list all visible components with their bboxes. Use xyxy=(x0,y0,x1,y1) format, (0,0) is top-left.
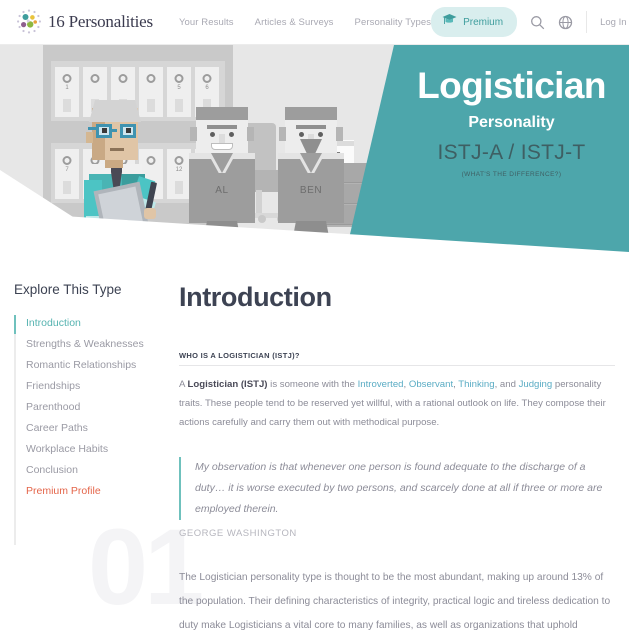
hero-title: Logistician xyxy=(394,67,629,104)
logo[interactable]: 16 Personalities xyxy=(16,9,153,35)
sidebar-item-romantic-relationships[interactable]: Romantic Relationships xyxy=(26,355,175,376)
trait-link-thinking[interactable]: Thinking xyxy=(458,379,494,390)
hero-banner: 1 5 6 7 12 5 xyxy=(0,45,629,260)
section-heading: WHO IS A LOGISTICIAN (ISTJ)? xyxy=(179,351,615,366)
dot-ring-logo-icon xyxy=(16,9,42,35)
premium-label: Premium xyxy=(463,17,503,28)
intro-bold-term: Logistician (ISTJ) xyxy=(188,379,268,390)
login-button[interactable]: Log In xyxy=(600,17,626,28)
intro-text-b: is someone with the xyxy=(268,379,358,390)
sidebar-list: Introduction Strengths & Weaknesses Roma… xyxy=(14,313,175,502)
robot-name-label: BEN xyxy=(278,185,344,196)
whats-the-difference-link[interactable]: (WHAT'S THE DIFFERENCE?) xyxy=(394,171,629,178)
binder-number: 1 xyxy=(55,85,79,91)
body-paragraph-2: The Logistician personality type is thou… xyxy=(179,566,615,640)
sidebar-title: Explore This Type xyxy=(14,282,175,297)
sidebar-rail xyxy=(14,315,16,545)
sidebar-active-indicator xyxy=(14,315,16,334)
globe-icon[interactable] xyxy=(558,15,573,30)
sidebar-item-career-paths[interactable]: Career Paths xyxy=(26,418,175,439)
page-content: 01 Explore This Type Introduction Streng… xyxy=(0,260,629,640)
main-nav: Your Results Articles & Surveys Personal… xyxy=(179,17,431,28)
chair-caster xyxy=(258,215,266,223)
premium-button[interactable]: Premium xyxy=(431,7,517,37)
nav-item-articles-surveys[interactable]: Articles & Surveys xyxy=(255,17,334,28)
hero-subtitle: Personality xyxy=(394,114,629,132)
explore-sidebar: Explore This Type Introduction Strengths… xyxy=(0,282,175,640)
graduation-cap-icon xyxy=(442,13,457,31)
sidebar-item-workplace-habits[interactable]: Workplace Habits xyxy=(26,439,175,460)
nav-item-personality-types[interactable]: Personality Types xyxy=(355,17,432,28)
sidebar-item-premium-profile[interactable]: Premium Profile xyxy=(26,481,175,502)
pull-quote: My observation is that whenever one pers… xyxy=(179,457,615,520)
quote-author: GEORGE WASHINGTON xyxy=(179,528,615,539)
binder-number: 5 xyxy=(167,85,191,91)
binder-number: 6 xyxy=(195,85,219,91)
intro-text-a: A xyxy=(179,379,188,390)
trait-link-introverted[interactable]: Introverted xyxy=(358,379,404,390)
quote-text: My observation is that whenever one pers… xyxy=(195,457,615,520)
site-header: 16 Personalities Your Results Articles &… xyxy=(0,0,629,45)
search-icon[interactable] xyxy=(530,15,545,30)
sidebar-item-friendships[interactable]: Friendships xyxy=(26,376,175,397)
sidebar-item-parenthood[interactable]: Parenthood xyxy=(26,397,175,418)
trait-link-observant[interactable]: Observant xyxy=(409,379,453,390)
header-actions: Premium Log In xyxy=(431,7,626,37)
article-main: Introduction WHO IS A LOGISTICIAN (ISTJ)… xyxy=(175,282,629,640)
intro-paragraph: A Logistician (ISTJ) is someone with the… xyxy=(179,375,615,432)
page-title: Introduction xyxy=(179,282,615,313)
trait-link-judging[interactable]: Judging xyxy=(519,379,553,390)
binder-number: 7 xyxy=(55,167,79,173)
hero-type-code: ISTJ-A / ISTJ-T xyxy=(394,141,629,165)
sep: , and xyxy=(495,379,519,390)
sidebar-item-conclusion[interactable]: Conclusion xyxy=(26,460,175,481)
header-divider xyxy=(586,11,587,33)
logo-text: 16 Personalities xyxy=(48,12,153,32)
sidebar-item-strengths-weaknesses[interactable]: Strengths & Weaknesses xyxy=(26,334,175,355)
sidebar-item-introduction[interactable]: Introduction xyxy=(26,313,175,334)
nav-item-your-results[interactable]: Your Results xyxy=(179,17,234,28)
